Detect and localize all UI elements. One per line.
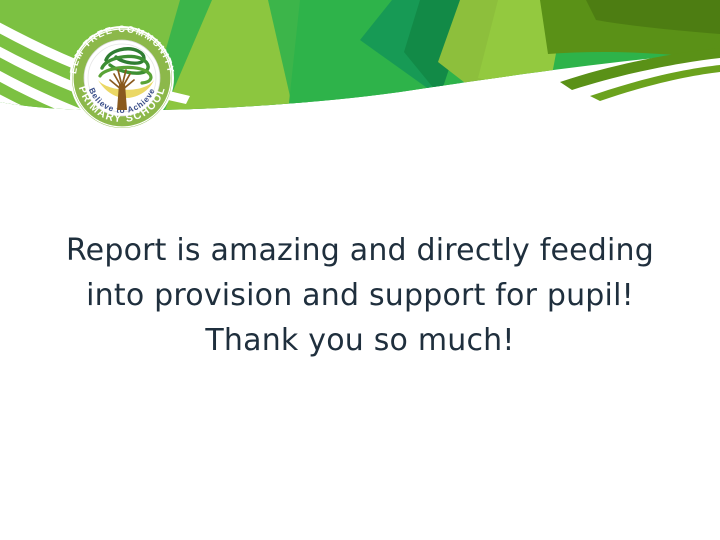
school-logo: ELM TREE COMMUNITY PRIMARY SCHOOL Believ… — [62, 18, 202, 138]
slide-canvas: ELM TREE COMMUNITY PRIMARY SCHOOL Believ… — [0, 0, 720, 540]
slide-body-text: Report is amazing and directly feeding i… — [50, 228, 670, 363]
school-logo-graphic: ELM TREE COMMUNITY PRIMARY SCHOOL Believ… — [62, 18, 202, 138]
